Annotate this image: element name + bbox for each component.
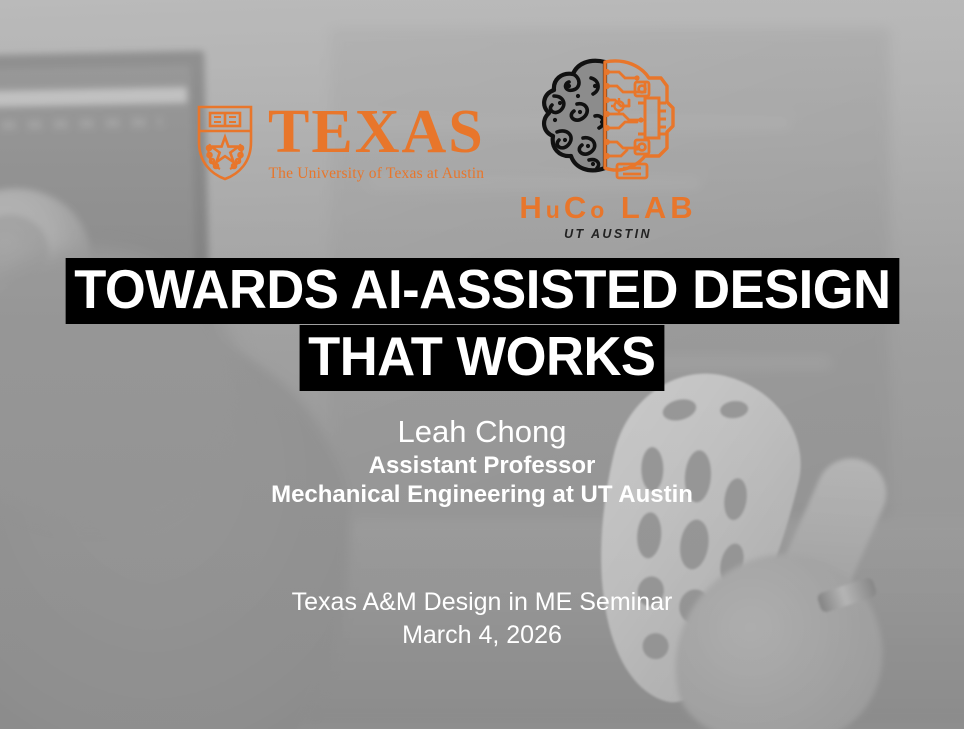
speaker-affiliation: Mechanical Engineering at UT Austin (0, 480, 964, 510)
ut-austin-logo: TEXAS The University of Texas at Austin (196, 104, 485, 183)
speaker-role: Assistant Professor (0, 451, 964, 481)
huco-subtitle: UT AUSTIN (513, 227, 703, 241)
huco-wordmark-u: u (546, 197, 564, 223)
huco-lab-logo: HuCo LAB UT AUSTIN (513, 56, 703, 241)
event-name: Texas A&M Design in ME Seminar (0, 586, 964, 619)
logo-row: TEXAS The University of Texas at Austin (0, 0, 964, 250)
huco-wordmark-c: C (564, 190, 590, 225)
speaker-block: Leah Chong Assistant Professor Mechanica… (0, 414, 964, 510)
event-block: Texas A&M Design in ME Seminar March 4, … (0, 586, 964, 651)
slide-title: TOWARDS AI-ASSISTED DESIGN THAT WORKS (0, 258, 964, 391)
ut-shield-icon (196, 104, 254, 182)
title-slide: TEXAS The University of Texas at Austin (0, 0, 964, 729)
title-line-2: THAT WORKS (300, 325, 664, 391)
huco-wordmark-lab: LAB (608, 190, 696, 225)
ut-tagline: The University of Texas at Austin (268, 165, 485, 183)
huco-wordmark-h: H (519, 190, 545, 225)
huco-wordmark-o: o (590, 197, 608, 223)
speaker-name: Leah Chong (0, 414, 964, 451)
title-line-1: TOWARDS AI-ASSISTED DESIGN (65, 258, 899, 324)
event-date: March 4, 2026 (0, 619, 964, 652)
brain-circuit-icon (513, 56, 703, 188)
huco-wordmark: HuCo LAB (513, 190, 703, 226)
ut-wordmark: TEXAS (268, 104, 485, 161)
